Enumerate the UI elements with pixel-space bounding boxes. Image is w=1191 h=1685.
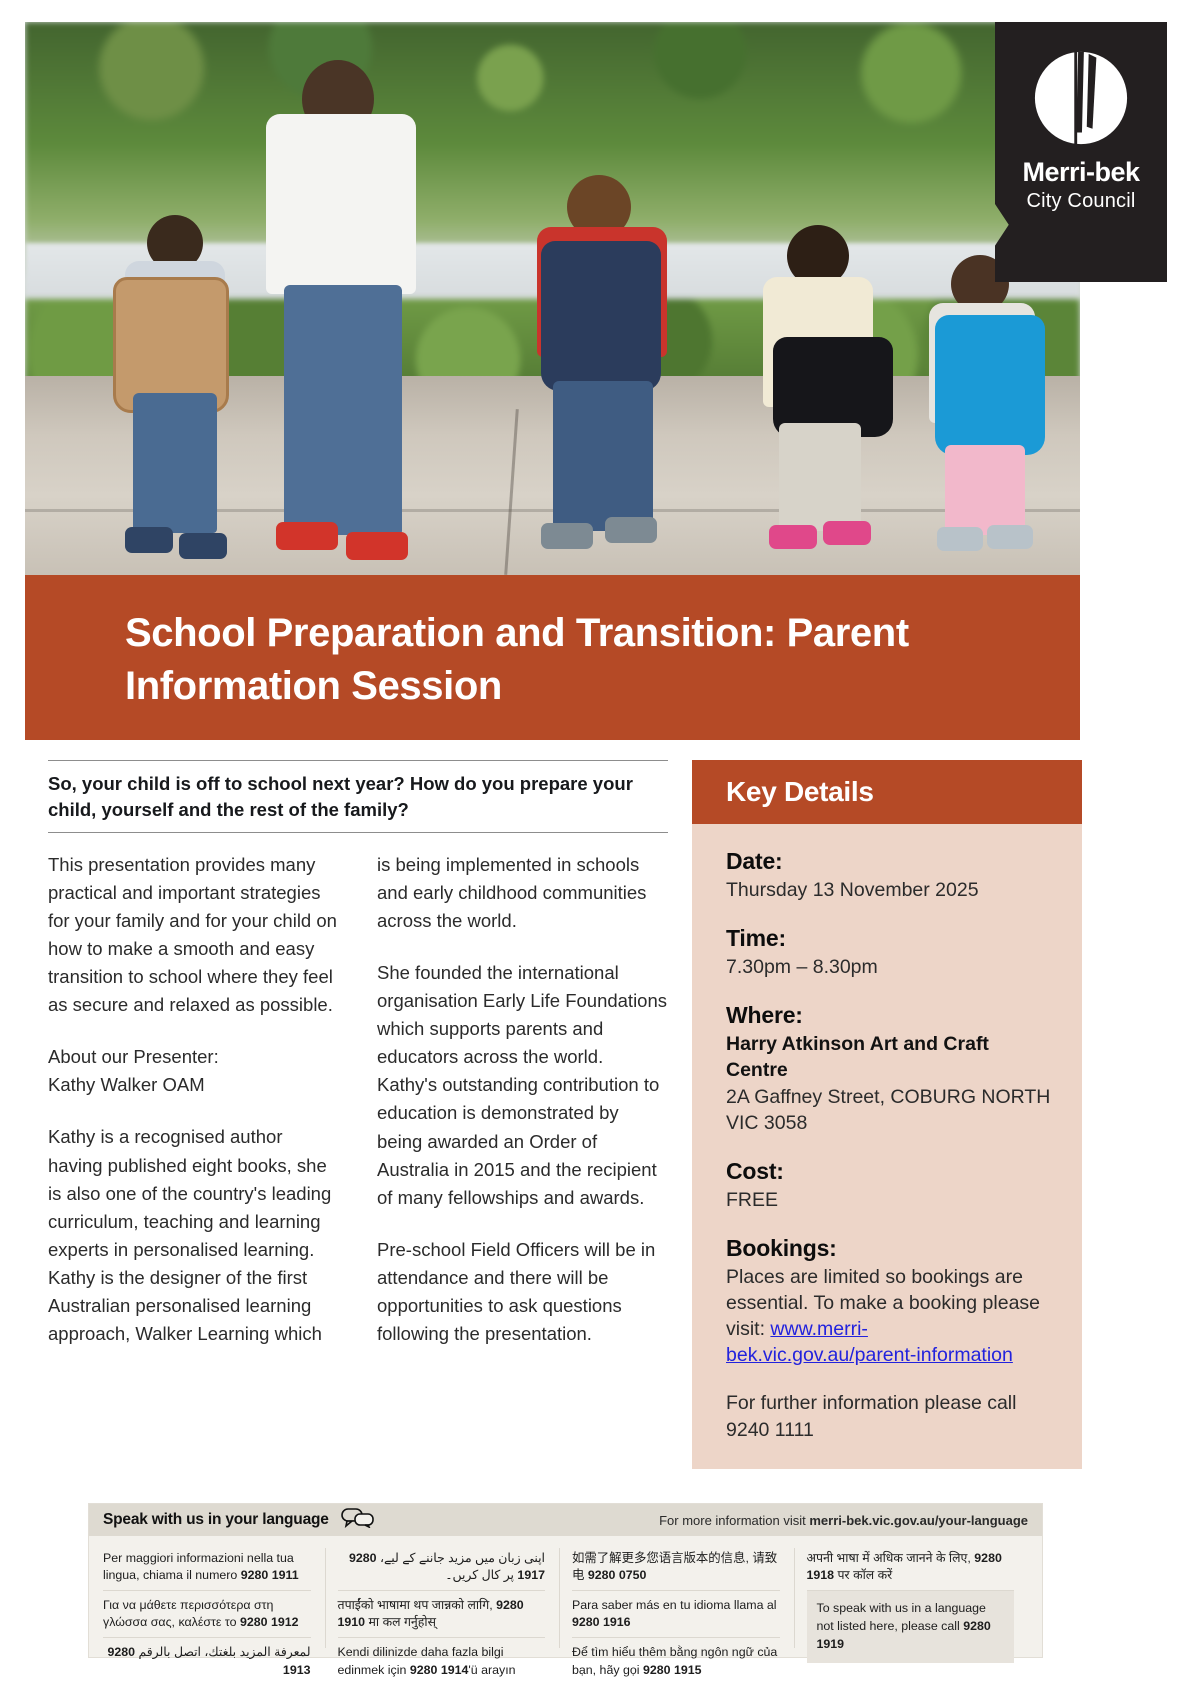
- language-cell: Để tìm hiểu thêm bằng ngôn ngữ của bạn, …: [572, 1638, 780, 1684]
- column-divider-3: [794, 1548, 795, 1648]
- adult-figure: [240, 70, 440, 575]
- child-figure-2: [505, 175, 705, 575]
- language-text-before: तपाईंको भाषामा थप जान्नको लागि,: [338, 1598, 497, 1612]
- bookings-label: Bookings:: [726, 1235, 1056, 1262]
- language-text-before: اپنی زبان میں مزید جاننے کے لیے،: [377, 1551, 545, 1565]
- presenter-heading: About our Presenter:: [48, 1046, 219, 1067]
- bookings-text: Places are limited so bookings are essen…: [726, 1264, 1056, 1369]
- presenter-name: Kathy Walker OAM: [48, 1074, 205, 1095]
- language-text-before: अपनी भाषा में अधिक जानने के लिए,: [807, 1551, 975, 1565]
- language-phone-number: 9280 1911: [241, 1568, 299, 1582]
- merri-bek-m-icon: [1033, 50, 1129, 146]
- key-details-content: Date: Thursday 13 November 2025 Time: 7.…: [692, 824, 1082, 1469]
- language-more-url: merri-bek.vic.gov.au/your-language: [809, 1513, 1028, 1528]
- note-text: To speak with us in a language not liste…: [817, 1601, 986, 1633]
- language-text-before: لمعرفة المزيد بلغتك، اتصل بالرقم: [135, 1645, 310, 1659]
- child-1-legs: [133, 393, 217, 533]
- language-column-2: اپنی زبان میں مزید جاننے کے لیے، 9280 19…: [338, 1544, 560, 1652]
- time-label: Time:: [726, 925, 1056, 952]
- child-3-shoe-right: [823, 521, 871, 545]
- child-2-backpack: [541, 241, 661, 391]
- adult-shoe-left: [276, 522, 338, 550]
- column-divider-2: [559, 1548, 560, 1648]
- poster-page: Merri-bek City Council School Preparatio…: [0, 0, 1191, 1684]
- venue-name: Harry Atkinson Art and Craft Centre: [726, 1031, 1056, 1083]
- child-2-legs: [553, 381, 653, 531]
- child-4-backpack: [935, 315, 1045, 455]
- language-text-after: मा कल गर्नुहोस्: [365, 1615, 436, 1629]
- language-cell: अपनी भाषा में अधिक जानने के लिए, 9280 19…: [807, 1544, 1015, 1591]
- language-column-4: अपनी भाषा में अधिक जानने के लिए, 9280 19…: [807, 1544, 1029, 1652]
- speech-bubbles-icon: [341, 1508, 375, 1533]
- child-3-legs: [779, 423, 861, 531]
- time-value: 7.30pm – 8.30pm: [726, 954, 1056, 980]
- language-phone-number: 9280 1916: [572, 1615, 631, 1629]
- language-cell: Para saber más en tu idioma llama al 928…: [572, 1591, 780, 1638]
- language-phone-number: 9280 0750: [588, 1568, 647, 1582]
- child-figure-3: [735, 225, 925, 575]
- cost-label: Cost:: [726, 1158, 1056, 1185]
- article-paragraph-1: This presentation provides many practica…: [48, 851, 339, 1020]
- title-banner: School Preparation and Transition: Paren…: [25, 575, 1080, 740]
- child-4-legs: [945, 445, 1025, 535]
- where-label: Where:: [726, 1002, 1056, 1029]
- logo-subtitle: City Council: [995, 190, 1167, 213]
- language-phone-number: 9280 1912: [240, 1615, 299, 1629]
- article-columns: This presentation provides many practica…: [48, 851, 668, 1349]
- lead-paragraph: So, your child is off to school next yea…: [48, 771, 668, 824]
- cost-value: FREE: [726, 1187, 1056, 1213]
- language-phone-number: 9280 1914: [410, 1663, 469, 1677]
- language-column-1: Per maggiori informazioni nella tua ling…: [103, 1544, 325, 1652]
- further-info: For further information please call 9240…: [726, 1390, 1056, 1442]
- language-cell: Kendi dilinizde daha fazla bilgi edinmek…: [338, 1638, 546, 1684]
- date-value: Thursday 13 November 2025: [726, 877, 1056, 903]
- language-text-after: 'ü arayın: [468, 1663, 515, 1677]
- adult-shoe-right: [346, 532, 408, 560]
- language-more-info: For more information visit merri-bek.vic…: [659, 1513, 1028, 1528]
- child-1-shoe-left: [125, 527, 173, 553]
- child-4-shoe-left: [937, 527, 983, 551]
- child-3-shoe-left: [769, 525, 817, 549]
- child-2-shoe-right: [605, 517, 657, 543]
- language-cell: Per maggiori informazioni nella tua ling…: [103, 1544, 311, 1591]
- language-text-after: पर कॉल करें: [834, 1568, 892, 1582]
- language-cell: तपाईंको भाषामा थप जान्नको लागि, 9280 191…: [338, 1591, 546, 1638]
- page-title: School Preparation and Transition: Paren…: [125, 607, 1040, 713]
- lead-wrapper: So, your child is off to school next yea…: [48, 760, 668, 833]
- language-column-3: 如需了解更多您语言版本的信息, 请致电 9280 0750Para saber …: [572, 1544, 794, 1652]
- adult-jeans: [284, 285, 402, 535]
- logo-name: Merri-bek: [995, 157, 1167, 188]
- column-divider-1: [325, 1548, 326, 1648]
- language-not-listed-note: To speak with us in a language not liste…: [807, 1591, 1015, 1663]
- presenter-block: About our Presenter: Kathy Walker OAM: [48, 1043, 339, 1099]
- bookings-link[interactable]: www.merri-bek.vic.gov.au/parent-informat…: [726, 1318, 1013, 1366]
- language-strip: Speak with us in your language For more …: [88, 1503, 1043, 1658]
- language-phone-number: 9280 1915: [643, 1663, 702, 1677]
- child-figure-4: [905, 255, 1080, 575]
- language-cell: لمعرفة المزيد بلغتك، اتصل بالرقم 9280 19…: [103, 1638, 311, 1684]
- venue-address: 2A Gaffney Street, COBURG NORTH VIC 3058: [726, 1084, 1056, 1136]
- child-figure-1: [85, 215, 260, 575]
- language-text-after: پر کال کریں۔: [445, 1568, 517, 1582]
- article-paragraph-3: She founded the international organisati…: [377, 959, 668, 1212]
- child-4-shoe-right: [987, 525, 1033, 549]
- language-grid: Per maggiori informazioni nella tua ling…: [89, 1536, 1042, 1658]
- adult-blouse: [266, 114, 416, 294]
- date-label: Date:: [726, 848, 1056, 875]
- article-paragraph-4: Pre-school Field Officers will be in att…: [377, 1236, 668, 1348]
- language-text-before: Para saber más en tu idioma llama al: [572, 1598, 777, 1612]
- key-details-heading: Key Details: [692, 760, 1082, 824]
- language-more-prefix: For more information visit: [659, 1513, 809, 1528]
- language-strip-header: Speak with us in your language For more …: [89, 1504, 1042, 1536]
- language-cell: اپنی زبان میں مزید جاننے کے لیے، 9280 19…: [338, 1544, 546, 1591]
- child-1-shoe-right: [179, 533, 227, 559]
- hero-photo: [25, 22, 1080, 575]
- merri-bek-logo: Merri-bek City Council: [995, 22, 1167, 282]
- child-2-shoe-left: [541, 523, 593, 549]
- child-3-bag: [773, 337, 893, 437]
- language-cell: 如需了解更多您语言版本的信息, 请致电 9280 0750: [572, 1544, 780, 1591]
- key-details-panel: Key Details Date: Thursday 13 November 2…: [692, 760, 1082, 1469]
- language-cell: Για να μάθετε περισσότερα στη γλώσσα σας…: [103, 1591, 311, 1638]
- article-body: So, your child is off to school next yea…: [48, 760, 668, 1348]
- language-strip-title: Speak with us in your language: [103, 1511, 329, 1529]
